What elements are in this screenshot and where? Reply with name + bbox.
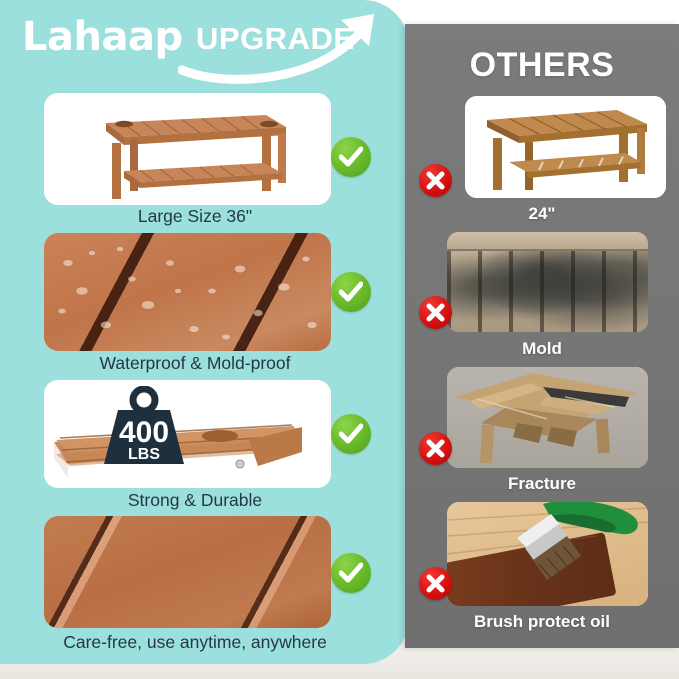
upgrade-panel: Lahaap UPGRADE [0, 0, 409, 664]
check-icon [339, 146, 363, 168]
left-card-label-3: Care-free, use anytime, anywhere [0, 632, 390, 653]
fracture-detail [447, 367, 648, 468]
brand-header: Lahaap UPGRADE [0, 0, 409, 86]
cross-badge-2 [419, 432, 452, 465]
upgrade-label: UPGRADE [196, 21, 355, 57]
right-card-label-2: Fracture [405, 474, 679, 494]
cross-badge-0 [419, 164, 452, 197]
left-card-image-3 [44, 516, 331, 628]
svg-text:400: 400 [119, 416, 169, 449]
others-title: OTHERS [405, 46, 679, 85]
left-card-label-1: Waterproof & Mold-proof [0, 353, 390, 374]
right-card-image-3 [447, 502, 648, 606]
right-card-image-1 [447, 232, 648, 332]
left-card-image-2: 400 LBS [44, 380, 331, 488]
left-card-image-1 [44, 233, 331, 351]
right-card-label-0: 24" [405, 204, 679, 224]
check-icon [339, 562, 363, 584]
left-card-label-2: Strong & Durable [0, 490, 390, 511]
right-card-label-3: Brush protect oil [405, 612, 679, 632]
check-badge-2 [331, 414, 371, 454]
weight-badge-icon: 400 LBS [92, 386, 196, 470]
check-icon [339, 423, 363, 445]
wooden-bench-with-shelf-icon [44, 93, 331, 205]
cross-icon [426, 303, 445, 322]
right-card-image-2 [447, 367, 648, 468]
left-card-image-0 [44, 93, 331, 205]
cross-badge-1 [419, 296, 452, 329]
cross-icon [426, 171, 445, 190]
check-badge-3 [331, 553, 371, 593]
right-card-image-0 [465, 96, 666, 198]
check-badge-0 [331, 137, 371, 177]
brush-and-glove-detail [447, 502, 648, 606]
dry-composite-board-icon [44, 516, 331, 628]
cross-icon [426, 439, 445, 458]
right-card-label-1: Mold [405, 339, 679, 359]
cross-icon [426, 574, 445, 593]
others-panel: OTHERS [405, 24, 679, 648]
brand-logo: Lahaap [22, 14, 183, 60]
check-icon [339, 281, 363, 303]
moldy-weathered-wood-icon [447, 232, 648, 332]
svg-text:LBS: LBS [128, 446, 160, 463]
small-wooden-table-icon [465, 96, 666, 198]
water-drops-overlay [44, 233, 331, 351]
check-badge-1 [331, 272, 371, 312]
left-card-label-0: Large Size 36" [0, 206, 390, 227]
cross-badge-3 [419, 567, 452, 600]
